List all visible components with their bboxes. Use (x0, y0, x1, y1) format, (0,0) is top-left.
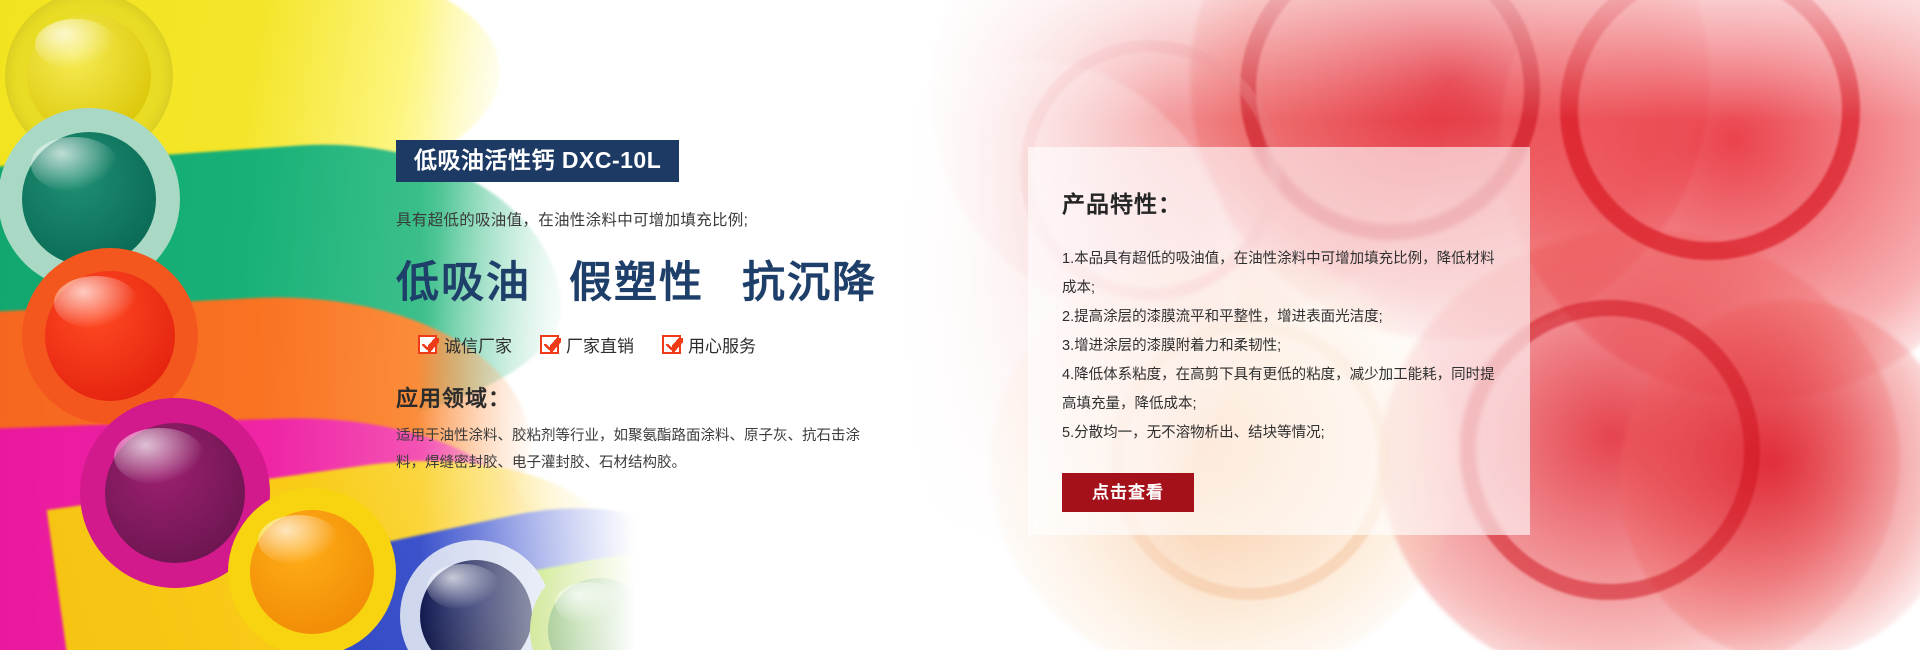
feature-label: 用心服务 (688, 332, 756, 357)
panel-feature-list: 1.本品具有超低的吸油值，在油性涂料中可增加填充比例，降低材料成本; 2.提高涂… (1062, 245, 1496, 448)
list-item: 4.降低体系粘度，在高剪下具有更低的粘度，减少加工能耗，同时提高填充量，降低成本… (1062, 361, 1496, 419)
panel-content: 产品特性： 1.本品具有超低的吸油值，在油性涂料中可增加填充比例，降低材料成本;… (1028, 147, 1530, 448)
list-item: 2.提高涂层的漆膜流平和平整性，增进表面光洁度; (1062, 303, 1496, 332)
feature-item-2: 厂家直销 (540, 332, 634, 357)
pot-gloss (31, 137, 118, 192)
checkbox-checked-icon (418, 335, 437, 354)
headline-word-1: 低吸油 (396, 259, 531, 307)
checkbox-checked-icon (662, 335, 681, 354)
product-title-badge: 低吸油活性钙 DXC-10L (396, 140, 679, 182)
checkbox-checked-icon (540, 335, 559, 354)
product-features-panel: 产品特性： 1.本品具有超低的吸油值，在油性涂料中可增加填充比例，降低材料成本;… (1028, 147, 1530, 535)
feature-item-1: 诚信厂家 (418, 332, 512, 357)
headline-word-2: 假塑性 (569, 259, 704, 307)
paint-pot-orange (228, 488, 396, 650)
list-item: 5.分散均一，无不溶物析出、结块等情况; (1062, 419, 1496, 448)
product-banner: 低吸油活性钙 DXC-10L 具有超低的吸油值，在油性涂料中可增加填充比例; 低… (0, 0, 1920, 650)
banner-subtitle: 具有超低的吸油值，在油性涂料中可增加填充比例; (396, 208, 916, 230)
panel-title: 产品特性： (1062, 185, 1496, 219)
application-section-body: 适用于油性涂料、胶粘剂等行业，如聚氨酯路面涂料、原子灰、抗石击涂料，焊缝密封胶、… (396, 423, 866, 477)
banner-headline: 低吸油假塑性抗沉降 (396, 248, 916, 310)
feature-label: 诚信厂家 (444, 332, 512, 357)
feature-item-3: 用心服务 (662, 332, 756, 357)
pot-gloss (54, 276, 138, 329)
list-item: 3.增进涂层的漆膜附着力和柔韧性; (1062, 332, 1496, 361)
list-item: 1.本品具有超低的吸油值，在油性涂料中可增加填充比例，降低材料成本; (1062, 245, 1496, 303)
pot-gloss (35, 19, 116, 69)
view-details-button[interactable]: 点击查看 (1062, 473, 1194, 512)
pot-gloss (258, 515, 339, 565)
headline-word-3: 抗沉降 (742, 259, 877, 307)
banner-copy: 低吸油活性钙 DXC-10L 具有超低的吸油值，在油性涂料中可增加填充比例; 低… (396, 140, 916, 477)
feature-badges: 诚信厂家 厂家直销 用心服务 (418, 332, 916, 357)
application-section-title: 应用领域： (396, 381, 916, 413)
feature-label: 厂家直销 (566, 332, 634, 357)
artwork-fade-top (860, 0, 1920, 120)
